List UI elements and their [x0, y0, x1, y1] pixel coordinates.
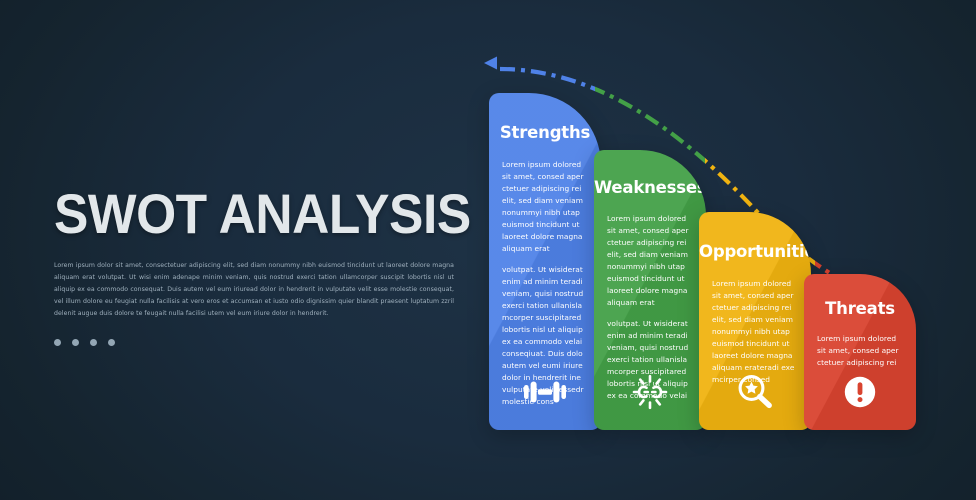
card-paragraph: Lorem ipsum dolored sit amet, consed ape… [817, 333, 903, 369]
card-paragraph: Lorem ipsum dolored sit amet, consed ape… [712, 278, 798, 386]
swot-card-opportunities[interactable]: Opportunities Lorem ipsum dolored sit am… [699, 212, 811, 430]
card-paragraph: Lorem ipsum dolored sit amet, consed ape… [607, 213, 693, 309]
card-title-strengths: Strengths [489, 123, 601, 142]
arrow-start-head [484, 57, 497, 70]
pagination-dot[interactable] [108, 339, 115, 346]
page-description: Lorem ipsum dolor sit amet, consectetuer… [54, 260, 454, 320]
swot-infographic: SWOT ANALYSIS Lorem ipsum dolor sit amet… [0, 0, 976, 500]
card-body-threats: Lorem ipsum dolored sit amet, consed ape… [817, 333, 903, 369]
swot-card-threats[interactable]: Threats Lorem ipsum dolored sit amet, co… [804, 274, 916, 430]
swot-card-strengths[interactable]: Strengths Lorem ipsum dolored sit amet, … [489, 93, 601, 430]
dumbbell-icon [489, 374, 601, 410]
pagination-dots[interactable] [54, 339, 454, 346]
card-paragraph: Lorem ipsum dolored sit amet, consed ape… [502, 159, 588, 255]
page-title: SWOT ANALYSIS [54, 186, 422, 242]
broken-link-icon [594, 374, 706, 410]
left-text-panel: SWOT ANALYSIS Lorem ipsum dolor sit amet… [54, 186, 454, 346]
card-title-weaknesses: Weaknesses [594, 178, 706, 197]
exclamation-circle-icon [804, 374, 916, 410]
card-body-strengths: Lorem ipsum dolored sit amet, consed ape… [502, 159, 588, 408]
pagination-dot[interactable] [54, 339, 61, 346]
pagination-dot[interactable] [72, 339, 79, 346]
card-title-threats: Threats [804, 299, 916, 318]
magnifier-star-icon [699, 374, 811, 410]
card-title-opportunities: Opportunities [699, 242, 811, 261]
pagination-dot[interactable] [90, 339, 97, 346]
card-body-opportunities: Lorem ipsum dolored sit amet, consed ape… [712, 278, 798, 386]
swot-card-weaknesses[interactable]: Weaknesses Lorem ipsum dolored sit amet,… [594, 150, 706, 430]
